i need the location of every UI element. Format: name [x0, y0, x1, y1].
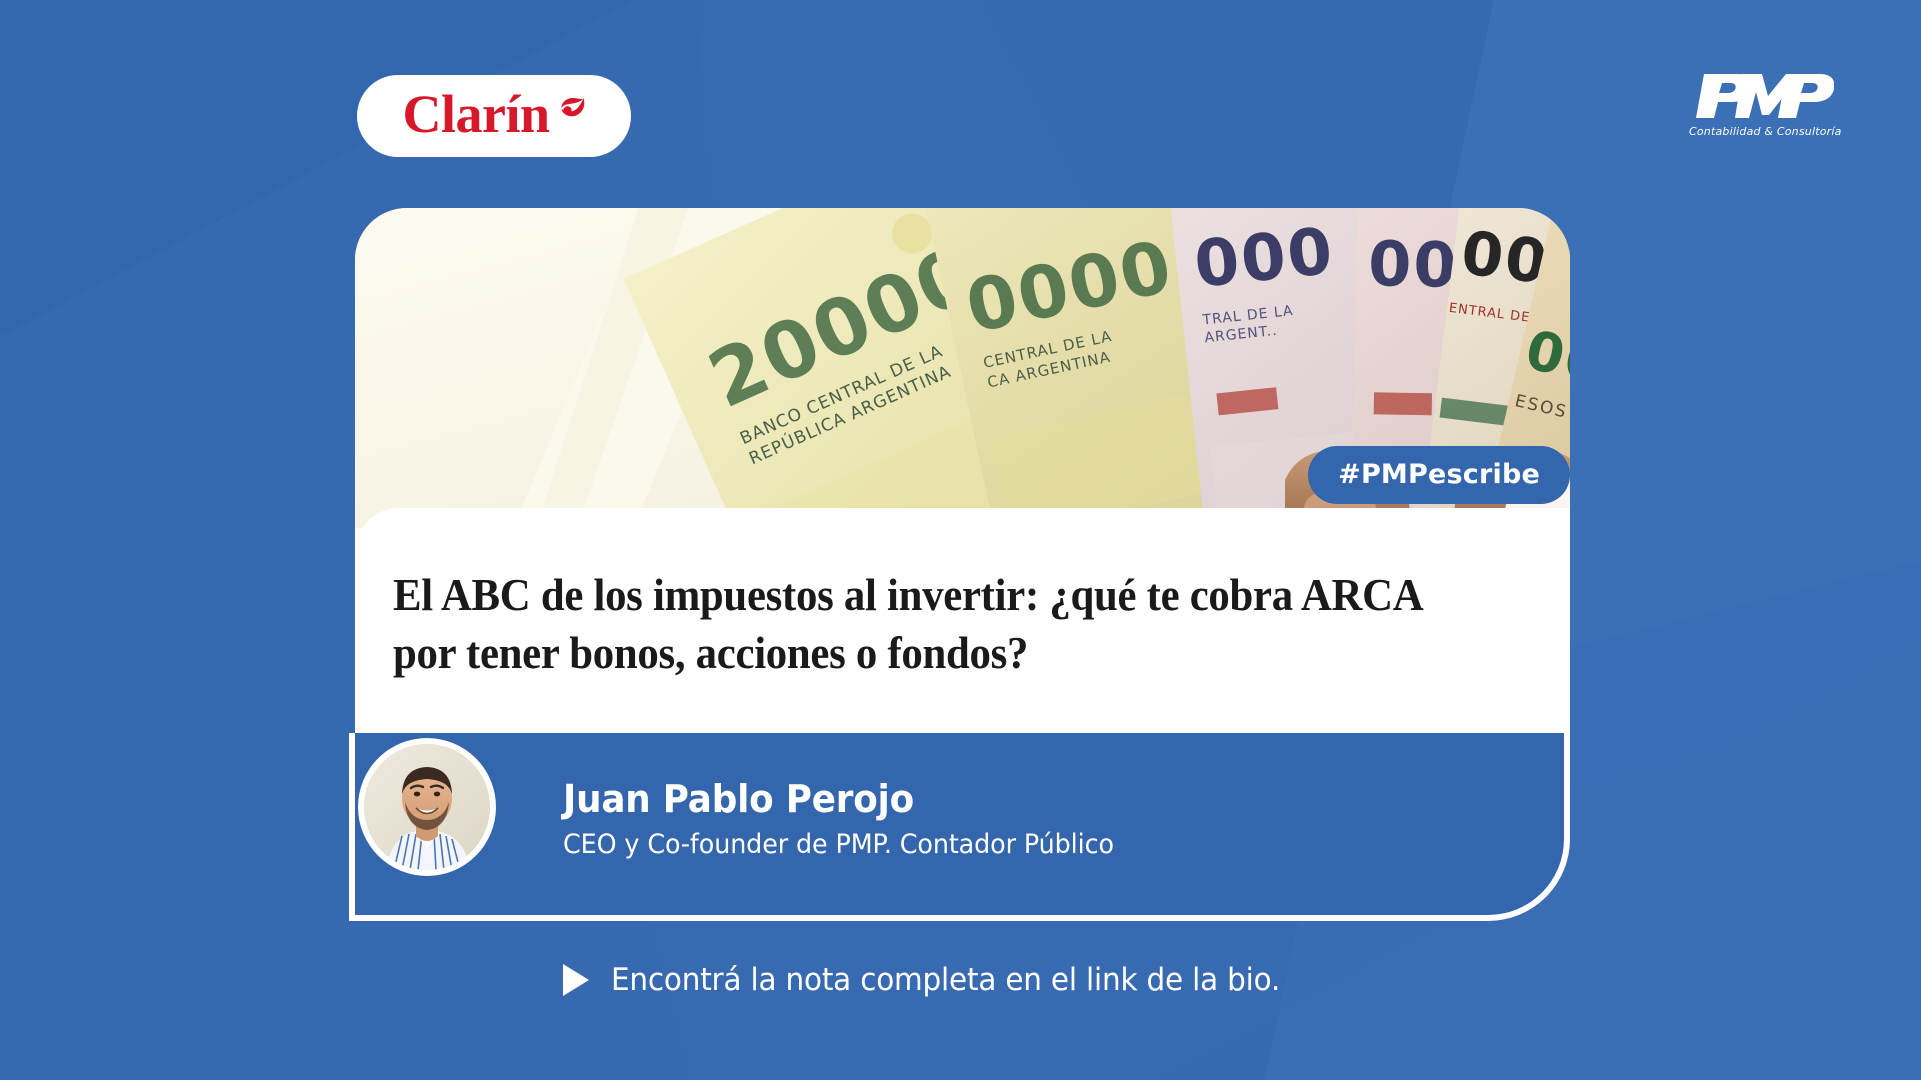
author-role: CEO y Co-founder de PMP. Contador Públic…	[563, 829, 1114, 860]
clarin-swoosh-icon	[552, 91, 586, 125]
avatar	[358, 738, 496, 876]
pmp-tagline: Contabilidad & Consultoría	[1689, 125, 1839, 138]
author-info: Juan Pablo Perojo CEO y Co-founder de PM…	[563, 780, 1149, 860]
author-name: Juan Pablo Perojo	[563, 780, 1114, 820]
play-triangle-icon	[563, 964, 589, 996]
pmp-logo: Contabilidad & Consultoría	[1689, 70, 1839, 138]
avatar-image	[364, 744, 490, 870]
pmp-monogram-icon	[1694, 70, 1834, 122]
cta-text: Encontrá la nota completa en el link de …	[611, 962, 1280, 998]
svg-text:000: 000	[1191, 215, 1338, 303]
clarin-wordmark: Clarín	[402, 87, 549, 141]
clarin-logo-pill: Clarín	[357, 75, 631, 157]
hashtag-badge[interactable]: #PMPescribe	[1308, 446, 1570, 504]
social-post-canvas: Clarín Contabilidad & Consultoría	[0, 0, 1921, 1080]
headline-panel: El ABC de los impuestos al invertir: ¿qu…	[355, 508, 1570, 733]
cta-row[interactable]: Encontrá la nota completa en el link de …	[563, 962, 1315, 998]
article-card: 20000 BANCO CENTRAL DE LA REPÚBLICA ARGE…	[355, 208, 1570, 733]
article-headline: El ABC de los impuestos al invertir: ¿qu…	[393, 566, 1463, 682]
